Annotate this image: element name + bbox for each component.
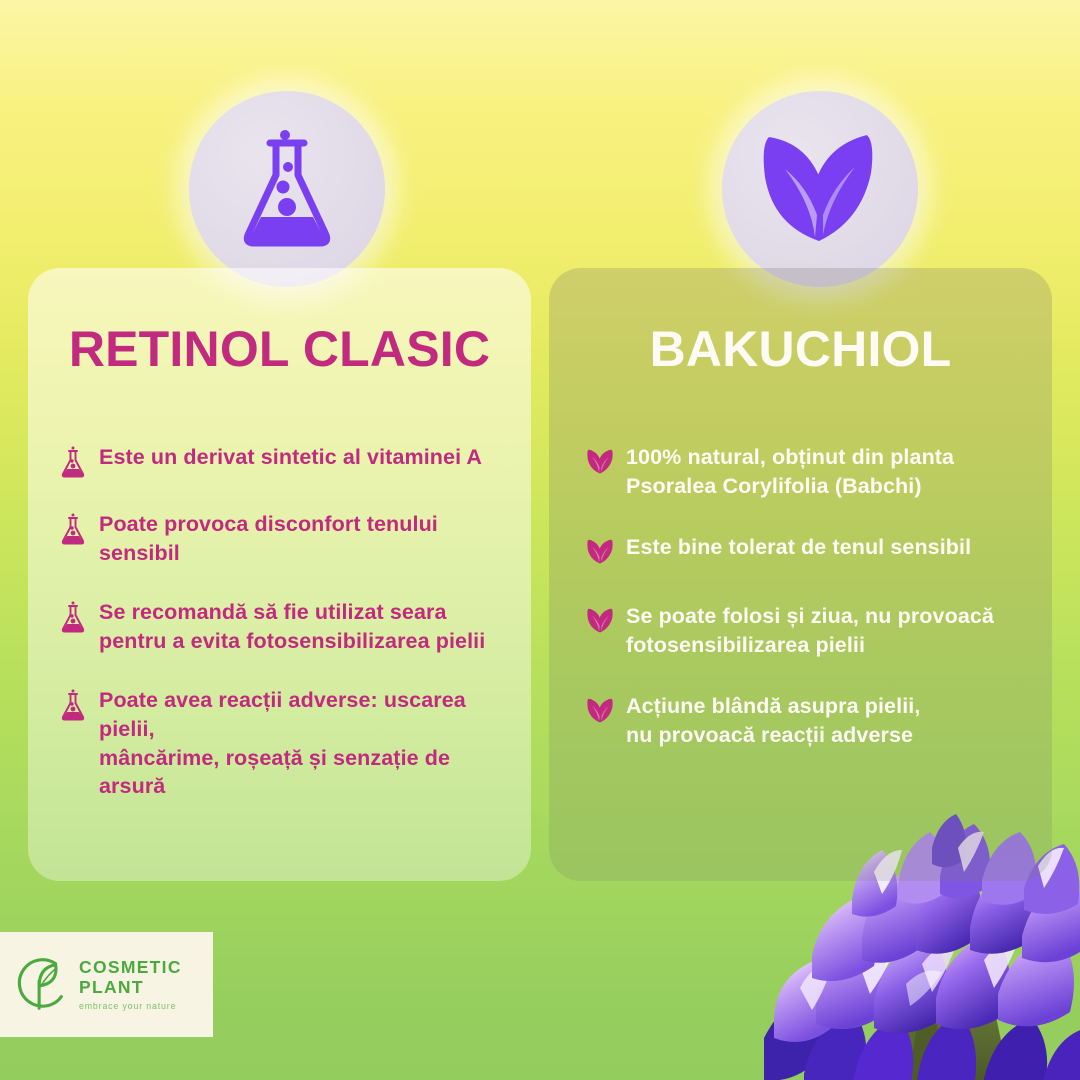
leaf-badge: [722, 91, 918, 287]
leaves-icon: [585, 535, 615, 569]
list-item-text: 100% natural, obținut din planta Psorale…: [626, 443, 954, 500]
leaf-in-circle-icon: [13, 954, 73, 1016]
bakuchiol-bullet-list: 100% natural, obținut din planta Psorale…: [585, 443, 1034, 783]
leaves-icon: [585, 445, 615, 479]
flask-icon: [58, 512, 88, 546]
infographic-canvas: RETINOL CLASIC Este un derivat sintetic …: [0, 0, 1080, 1080]
list-item: Se poate folosi și ziua, nu provoacă fot…: [585, 602, 1034, 659]
card-title-bakuchiol: BAKUCHIOL: [549, 320, 1052, 378]
flask-icon: [58, 445, 88, 479]
list-item-text: Este un derivat sintetic al vitaminei A: [99, 443, 482, 472]
card-bakuchiol: BAKUCHIOL 100% natural, obținut din plan…: [549, 268, 1052, 881]
list-item: Poate avea reacții adverse: uscarea piel…: [58, 686, 513, 800]
list-item-text: Acțiune blândă asupra pielii, nu provoac…: [626, 692, 920, 749]
flask-badge: [189, 91, 385, 287]
logo-line-1: COSMETIC: [79, 959, 182, 977]
flask-icon: [58, 688, 88, 722]
leaves-icon: [755, 129, 885, 249]
list-item-text: Poate avea reacții adverse: uscarea piel…: [99, 686, 513, 800]
flask-icon: [228, 123, 346, 255]
logo-line-2: PLANT: [79, 979, 182, 997]
card-retinol-clasic: RETINOL CLASIC Este un derivat sintetic …: [28, 268, 531, 881]
brand-logo: COSMETIC PLANT embrace your nature: [0, 932, 213, 1037]
leaves-icon: [585, 694, 615, 728]
list-item: Acțiune blândă asupra pielii, nu provoac…: [585, 692, 1034, 749]
list-item: Este un derivat sintetic al vitaminei A: [58, 443, 513, 479]
list-item-text: Poate provoca disconfort tenului sensibi…: [99, 510, 513, 567]
list-item-text: Se poate folosi și ziua, nu provoacă fot…: [626, 602, 994, 659]
list-item: Este bine tolerat de tenul sensibil: [585, 533, 1034, 569]
logo-wordmark: COSMETIC PLANT embrace your nature: [79, 959, 182, 1011]
list-item: Poate provoca disconfort tenului sensibi…: [58, 510, 513, 567]
list-item-text: Se recomandă să fie utilizat seara pentr…: [99, 598, 485, 655]
flask-icon: [58, 600, 88, 634]
card-title-retinol: RETINOL CLASIC: [28, 320, 531, 378]
leaves-icon: [585, 604, 615, 638]
list-item-text: Este bine tolerat de tenul sensibil: [626, 533, 971, 562]
retinol-bullet-list: Este un derivat sintetic al vitaminei A …: [58, 443, 513, 832]
list-item: Se recomandă să fie utilizat seara pentr…: [58, 598, 513, 655]
list-item: 100% natural, obținut din planta Psorale…: [585, 443, 1034, 500]
logo-tagline: embrace your nature: [79, 1002, 182, 1011]
